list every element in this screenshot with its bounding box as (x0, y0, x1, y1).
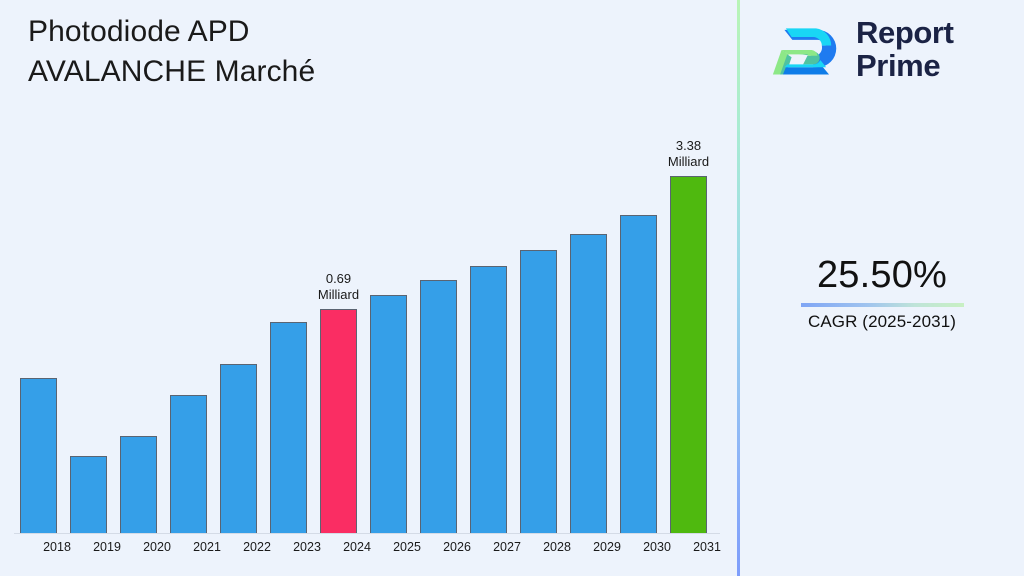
x-axis-line (14, 533, 720, 534)
bar-2022 (220, 364, 257, 533)
bar-2030 (620, 215, 657, 533)
bar-2031 (670, 176, 707, 533)
cagr-value: 25.50% (740, 255, 1024, 297)
bar-value-2031: 3.38 Milliard (644, 138, 734, 171)
bar-2025 (370, 295, 407, 533)
x-label-2031: 2031 (677, 540, 737, 554)
bar-2026 (420, 280, 457, 533)
cagr-block: 25.50% CAGR (2025-2031) (740, 255, 1024, 332)
plot-area: 2018201920202021202220232024202520262027… (0, 0, 737, 576)
brand-name: Report Prime (856, 17, 954, 83)
bar-2028 (520, 250, 557, 533)
bar-2020 (120, 436, 157, 533)
bar-2019 (70, 456, 107, 533)
bar-value-2024: 0.69 Milliard (294, 271, 384, 304)
brand-panel: Report Prime 25.50% CAGR (2025-2031) (740, 0, 1024, 576)
bar-2018 (20, 378, 57, 533)
bar-2029 (570, 234, 607, 533)
bar-2023 (270, 322, 307, 533)
cagr-divider-rule (801, 303, 964, 307)
cagr-label: CAGR (2025-2031) (740, 312, 1024, 332)
report-prime-r-logo-icon (770, 14, 842, 86)
bar-2021 (170, 395, 207, 533)
chart-infographic: Photodiode APD AVALANCHE Marché 20182019… (0, 0, 1024, 576)
chart-panel: Photodiode APD AVALANCHE Marché 20182019… (0, 0, 737, 576)
bar-2027 (470, 266, 507, 533)
bar-2024 (320, 309, 357, 533)
brand-logo: Report Prime (770, 14, 954, 86)
